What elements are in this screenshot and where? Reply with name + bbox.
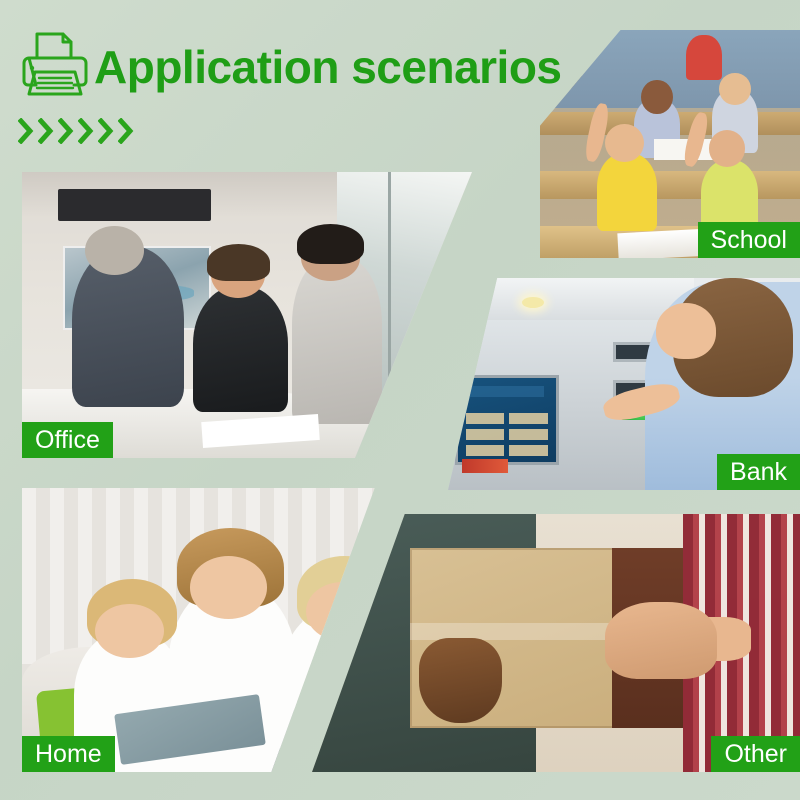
chevron-right-icon <box>18 118 34 144</box>
printer-icon <box>18 28 92 98</box>
office-photo <box>22 172 472 458</box>
chevron-row <box>18 118 134 144</box>
chevron-right-icon <box>58 118 74 144</box>
chevron-right-icon <box>118 118 134 144</box>
scenario-panel-office[interactable]: Office <box>22 172 472 458</box>
scenario-label-office: Office <box>22 422 113 458</box>
application-scenarios-banner: Application scenarios Office <box>0 0 800 800</box>
chevron-right-icon <box>78 118 94 144</box>
scenario-panel-bank[interactable]: Bank <box>448 278 800 490</box>
chevron-right-icon <box>38 118 54 144</box>
scenario-label-other: Other <box>711 736 800 772</box>
scenario-label-school: School <box>698 222 800 258</box>
scenario-label-bank: Bank <box>717 454 800 490</box>
scenario-label-home: Home <box>22 736 115 772</box>
chevron-right-icon <box>98 118 114 144</box>
other-photo <box>312 514 800 772</box>
page-title: Application scenarios <box>94 36 562 98</box>
scenario-panel-other[interactable]: Other <box>312 514 800 772</box>
